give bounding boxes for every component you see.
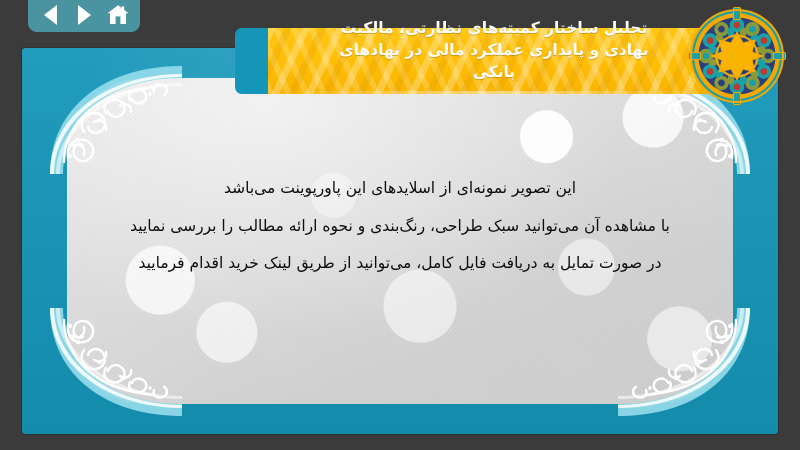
slide-navigation-bar [28,0,140,32]
body-line-3: در صورت تمایل به دریافت فایل کامل، می‌تو… [101,245,699,283]
slide-viewer: این تصویر نمونه‌ای از اسلایدهای این پاور… [0,0,800,450]
slide-body-text: این تصویر نمونه‌ای از اسلایدهای این پاور… [67,170,733,283]
previous-slide-icon [44,5,57,25]
body-line-2: با مشاهده آن می‌توانید سبک طراحی، رنگ‌بن… [101,208,699,246]
title-line-2: نهادی و پایداری عملکرد مالی در نهادهای [339,41,648,59]
home-button[interactable] [105,3,131,27]
slide-content-panel: این تصویر نمونه‌ای از اسلایدهای این پاور… [67,78,733,404]
forward-button[interactable] [71,3,97,27]
back-button[interactable] [37,3,63,27]
title-line-3: بانکی [473,63,515,81]
body-line-1: این تصویر نمونه‌ای از اسلایدهای این پاور… [101,170,699,208]
slide-title-band: تحلیل ساختار کمیته‌های نظارتی، مالکیت نه… [268,28,720,94]
slide-title: تحلیل ساختار کمیته‌های نظارتی، مالکیت نه… [279,17,709,83]
title-line-1: تحلیل ساختار کمیته‌های نظارتی، مالکیت [341,19,648,37]
slide-frame: این تصویر نمونه‌ای از اسلایدهای این پاور… [22,48,778,434]
home-icon [106,4,130,26]
next-slide-icon [78,5,91,25]
